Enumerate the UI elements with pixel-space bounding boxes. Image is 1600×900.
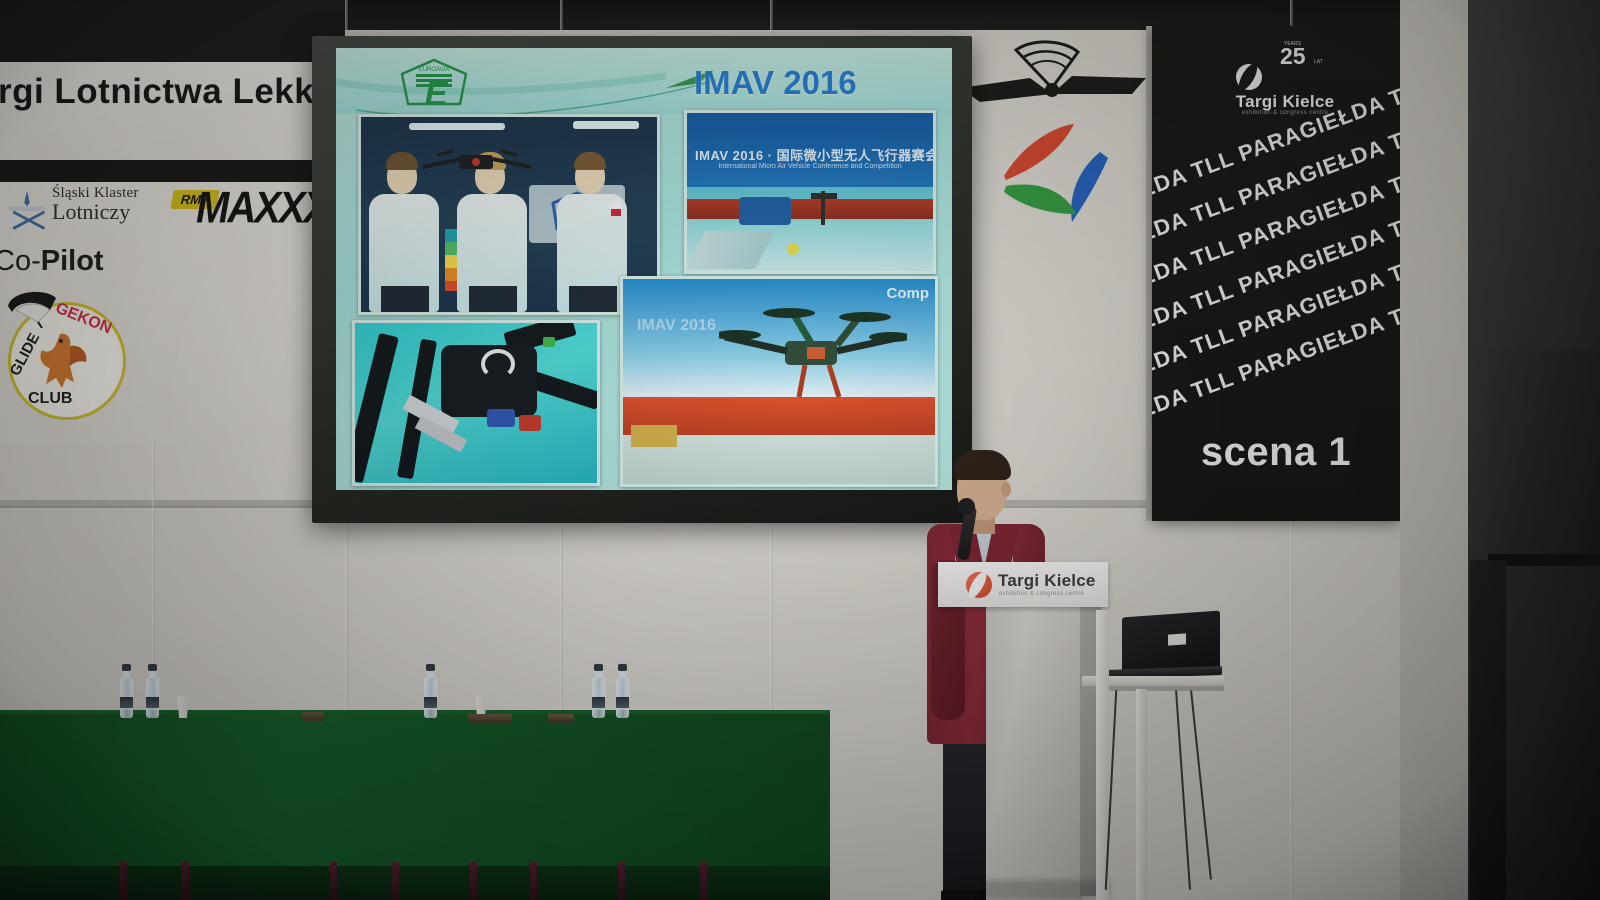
- banner-dark-band: [0, 0, 345, 62]
- table-object: [468, 714, 512, 723]
- chair-leg: [330, 862, 337, 900]
- euroavia-logo-icon: EUROAVIA E: [398, 58, 470, 110]
- dark-vertical-beam: [1470, 560, 1506, 900]
- water-bottle: [616, 662, 629, 718]
- chair-leg: [700, 862, 707, 900]
- chair-leg: [182, 862, 189, 900]
- slide-photo-flight: Comp IMAV 2016: [620, 276, 938, 487]
- slide-title: IMAV 2016: [694, 64, 857, 102]
- gecko-icon: [36, 330, 92, 392]
- arena-banner: IMAV 2016 · 国际微小型无人飞行器赛会 International M…: [687, 123, 933, 187]
- svg-text:LAT: LAT: [1314, 59, 1323, 65]
- targi-kielce-mark-icon: [1236, 64, 1262, 90]
- electronics-module: [487, 409, 515, 427]
- table-object: [302, 712, 324, 721]
- gekon-bottom-text: CLUB: [28, 390, 72, 408]
- ceiling-light: [573, 121, 639, 129]
- stage-label: scena 1: [1152, 430, 1400, 475]
- arena-banner-chinese: IMAV 2016 · 国际微小型无人飞行器赛会: [695, 145, 925, 164]
- arena-gate-icon: [809, 191, 839, 225]
- water-bottle: [592, 662, 605, 718]
- slide-photo-arena: IMAV 2016 · 国际微小型无人飞行器赛会 International M…: [684, 110, 936, 274]
- water-bottle: [120, 662, 133, 718]
- anniversary-25-icon: YEARS 25 LAT: [1270, 38, 1336, 66]
- ceiling-light: [409, 123, 505, 130]
- laptop-sticker: [1168, 633, 1186, 645]
- podium-sign-title: Targi Kielce: [998, 571, 1096, 591]
- status-led: [543, 337, 555, 347]
- water-bottle: [146, 662, 159, 718]
- laptop-table-leg: [1136, 689, 1147, 900]
- flight-banner-fragment: Comp: [817, 285, 929, 302]
- arena-banner-english: International Micro Air Vehicle Conferen…: [695, 163, 925, 170]
- conference-stage-photo: argi Lotnictwa Lekkiego Śląski Klaster L…: [0, 0, 1600, 900]
- marker-ball: [787, 243, 799, 255]
- projection-screen-slide: EUROAVIA E IMAV 2016 E: [336, 48, 952, 490]
- podium-sign: Targi Kielce exhibition & congress centr…: [938, 562, 1108, 607]
- pa-speaker-icon: [1488, 350, 1600, 560]
- green-tablecloth: [0, 714, 830, 874]
- chair-leg: [530, 862, 537, 900]
- fair-title-text: argi Lotnictwa Lekkiego: [0, 72, 348, 112]
- cluster-line-2: Lotniczy: [52, 201, 172, 223]
- gekon-glide-club-logo: GEKON GLIDE CLUB: [0, 288, 136, 420]
- targi-kielce-logo: YEARS 25 LAT Targi Kielce exhibition & c…: [1204, 38, 1354, 112]
- slide-photo-team: E: [358, 114, 660, 315]
- chair-leg: [392, 862, 399, 900]
- table-object: [548, 714, 574, 723]
- svg-text:25: 25: [1280, 43, 1306, 66]
- water-bottle: [424, 662, 437, 718]
- chair-leg: [470, 862, 477, 900]
- flag-patch: [611, 202, 621, 216]
- co-pilot-bold: Pilot: [41, 245, 104, 277]
- targi-kielce-mark-icon: [966, 572, 992, 598]
- podium-shadow: [980, 880, 1110, 900]
- maxxx-logo-text: MAXXX: [196, 183, 328, 233]
- aviation-cluster-logo: Śląski Klaster Lotniczy: [4, 182, 164, 240]
- microphone-head-icon: [958, 498, 975, 515]
- presenter-hair: [953, 450, 1011, 480]
- drone-icon: [419, 145, 535, 179]
- svg-text:E: E: [425, 75, 449, 110]
- aviation-cluster-icon: [4, 188, 50, 234]
- arena-vehicle: [739, 197, 791, 225]
- co-pilot-prefix: Co-: [0, 245, 41, 277]
- flight-watermark: IMAV 2016: [637, 317, 716, 335]
- banner-dark-band: [0, 160, 345, 182]
- podium-body: [986, 604, 1082, 900]
- presenter-ear: [1001, 482, 1011, 497]
- drone-in-flight-icon: [719, 307, 907, 403]
- colorful-star-icon: [1000, 118, 1112, 230]
- cable-loop: [481, 349, 515, 379]
- chair-leg: [120, 862, 127, 900]
- paragielda-banner: YEARS 25 LAT Targi Kielce exhibition & c…: [1152, 26, 1400, 521]
- podium-sign-subtitle: exhibition & congress centre: [999, 591, 1084, 597]
- electronics-module: [519, 415, 541, 431]
- aviation-cluster-label: Śląski Klaster Lotniczy: [52, 186, 172, 223]
- svg-text:EUROAVIA: EUROAVIA: [419, 67, 450, 73]
- chair-leg: [618, 862, 625, 900]
- slide-photo-frame-closeup: [352, 320, 600, 486]
- co-pilot-logo: Co-Pilot: [0, 245, 104, 278]
- equipment-box: [631, 425, 677, 447]
